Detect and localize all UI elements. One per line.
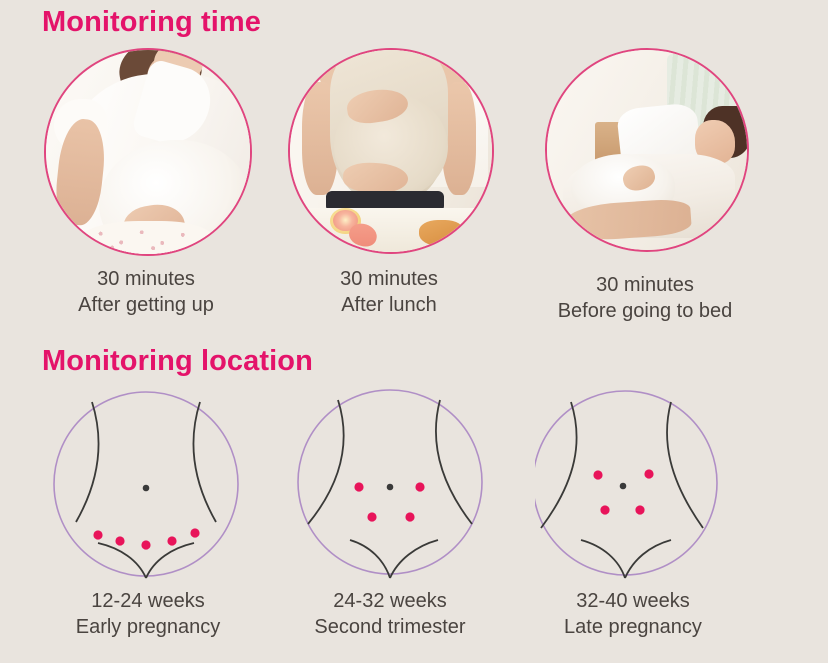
caption-line-1: 30 minutes xyxy=(46,266,246,292)
caption-line-2: Late pregnancy xyxy=(533,614,733,640)
monitoring-time-item-2 xyxy=(288,48,494,254)
abdomen-diagram-early-pregnancy xyxy=(50,388,246,580)
monitoring-point xyxy=(93,530,102,539)
diagram-right-groin-line xyxy=(390,540,438,578)
diagram-navel xyxy=(620,483,627,490)
caption-monitoring-location-3: 32-40 weeks Late pregnancy xyxy=(533,588,733,640)
abdomen-diagram-second-trimester xyxy=(292,388,488,580)
diagram-left-waist-line xyxy=(541,402,577,528)
caption-line-2: Before going to bed xyxy=(545,298,745,324)
caption-line-1: 12-24 weeks xyxy=(48,588,248,614)
photo-skirt-pattern xyxy=(87,225,201,254)
monitoring-point xyxy=(115,536,124,545)
diagram-markers xyxy=(593,469,653,514)
monitoring-point xyxy=(190,528,199,537)
caption-line-2: Early pregnancy xyxy=(48,614,248,640)
diagram-navel xyxy=(387,484,394,491)
section-heading-monitoring-location: Monitoring location xyxy=(42,345,313,378)
diagram-right-waist-line xyxy=(436,400,472,524)
monitoring-point xyxy=(367,512,376,521)
caption-monitoring-location-2: 24-32 weeks Second trimester xyxy=(290,588,490,640)
monitoring-point xyxy=(415,482,424,491)
monitoring-time-item-3 xyxy=(545,48,749,252)
caption-line-2: After getting up xyxy=(46,292,246,318)
caption-line-2: After lunch xyxy=(289,292,489,318)
monitoring-point xyxy=(405,512,414,521)
monitoring-location-diagram-row xyxy=(0,388,828,583)
caption-monitoring-time-1: 30 minutes After getting up xyxy=(46,266,246,318)
caption-line-1: 32-40 weeks xyxy=(533,588,733,614)
monitoring-point xyxy=(600,505,609,514)
caption-monitoring-time-2: 30 minutes After lunch xyxy=(289,266,489,318)
pregnant-woman-standing-hand-on-belly-photo xyxy=(44,48,252,256)
abdomen-diagram-late-pregnancy xyxy=(535,388,731,580)
infographic-page: Monitoring time xyxy=(0,0,828,663)
diagram-left-waist-line xyxy=(308,400,344,524)
monitoring-time-item-1 xyxy=(44,48,252,256)
diagram-outer-circle xyxy=(298,390,482,574)
photo-pastry xyxy=(419,220,463,246)
pregnant-woman-with-grapefruit-and-pastry-photo xyxy=(288,48,494,254)
caption-monitoring-location-1: 12-24 weeks Early pregnancy xyxy=(48,588,248,640)
caption-line-1: 30 minutes xyxy=(289,266,489,292)
pregnant-woman-resting-in-bed-photo xyxy=(545,48,749,252)
diagram-navel xyxy=(143,485,150,492)
monitoring-point xyxy=(141,540,150,549)
monitoring-time-photo-row xyxy=(0,48,828,263)
caption-line-2: Second trimester xyxy=(290,614,490,640)
diagram-outer-circle xyxy=(535,391,717,575)
monitoring-point xyxy=(593,470,602,479)
monitoring-point xyxy=(635,505,644,514)
photo-berries xyxy=(294,216,316,230)
monitoring-point xyxy=(167,536,176,545)
monitoring-point xyxy=(644,469,653,478)
caption-monitoring-time-3: 30 minutes Before going to bed xyxy=(545,272,745,324)
diagram-right-waist-line xyxy=(667,402,703,528)
section-heading-monitoring-time: Monitoring time xyxy=(42,6,261,39)
caption-line-1: 24-32 weeks xyxy=(290,588,490,614)
monitoring-point xyxy=(354,482,363,491)
caption-line-1: 30 minutes xyxy=(545,272,745,298)
